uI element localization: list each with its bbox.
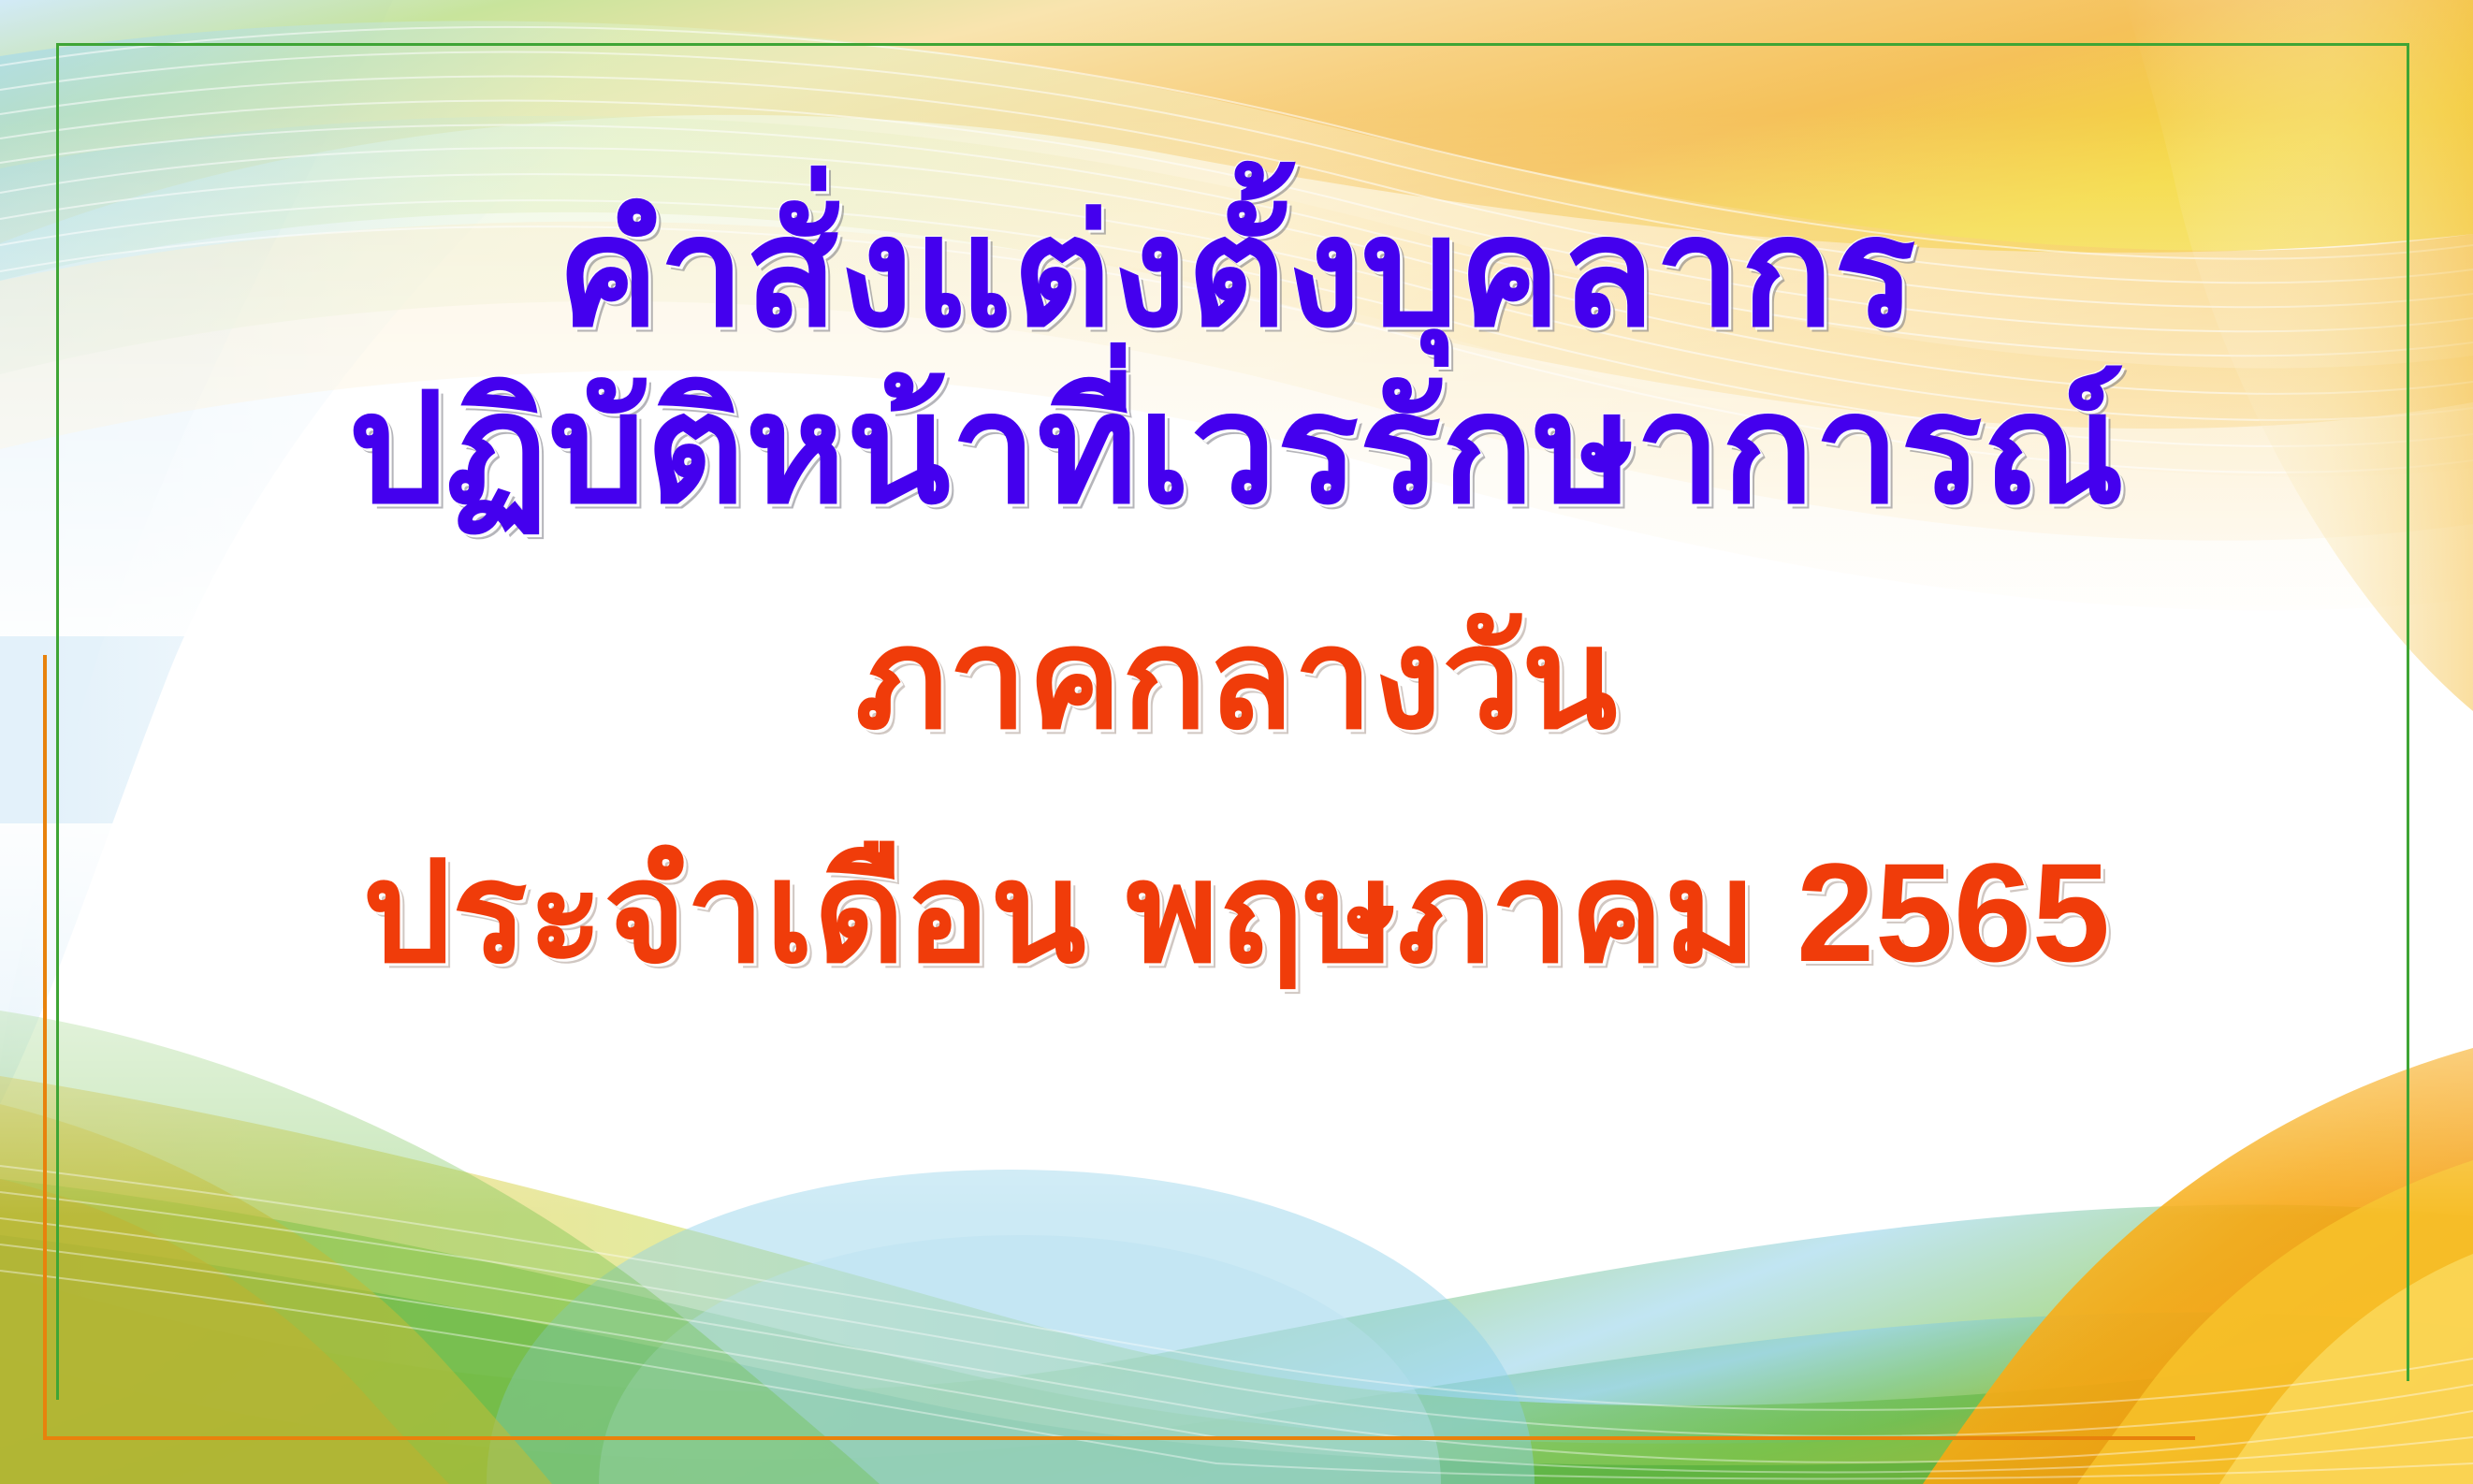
subtitle-month-year: ประจำเดือน พฤษภาคม 2565 xyxy=(362,834,2110,991)
subtitle-shift-period: ภาคกลางวัน xyxy=(855,600,1618,757)
presentation-slide: คำสั่งแต่งตั้งบุคลากร ปฏิบัติหน้าที่เวรร… xyxy=(0,0,2473,1484)
title-line-2: ปฏิบัติหน้าที่เวรรักษาการณ์ xyxy=(348,364,2125,535)
slide-title-block: คำสั่งแต่งตั้งบุคลากร ปฏิบัติหน้าที่เวรร… xyxy=(0,0,2473,1484)
title-line-1: คำสั่งแต่งตั้งบุคลากร xyxy=(557,187,1916,358)
